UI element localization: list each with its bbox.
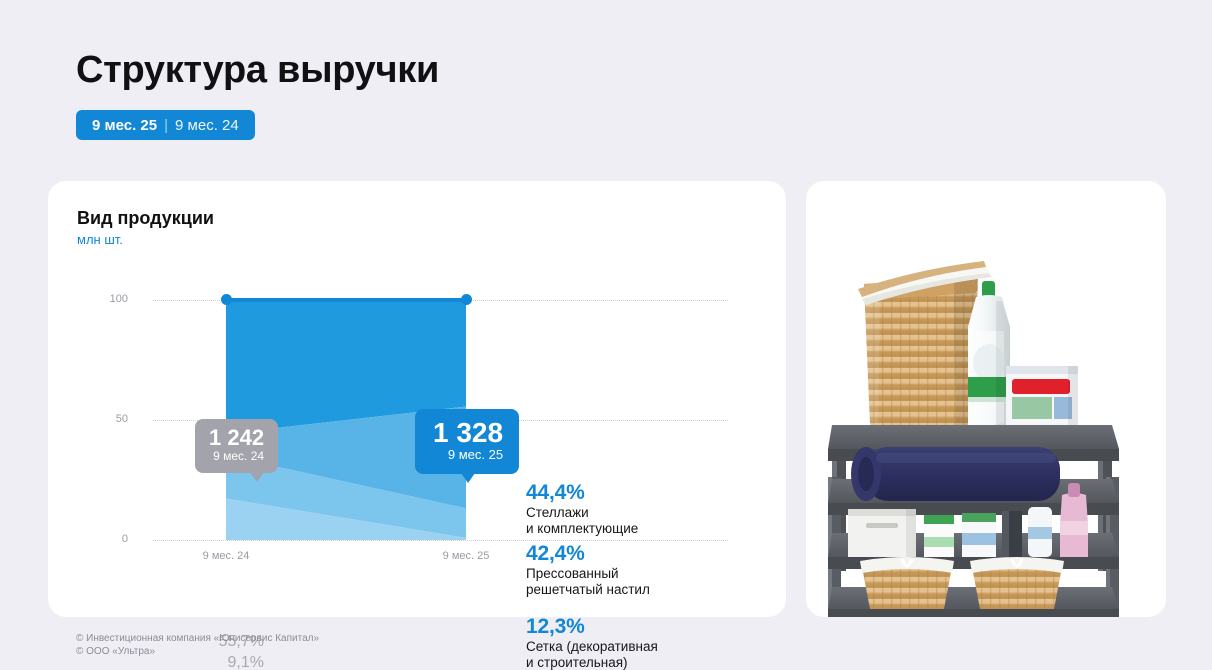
callout-current-total: 1 328 9 мес. 25 bbox=[415, 409, 519, 474]
plot-area: 100 50 0 1 bbox=[48, 181, 786, 617]
wicker-basket-left bbox=[860, 557, 954, 609]
shelving-unit-illustration bbox=[806, 181, 1166, 617]
slide-root: Структура выручки 9 мес. 25 | 9 мес. 24 … bbox=[0, 0, 1212, 670]
period-badge-current: 9 мес. 25 bbox=[92, 117, 157, 134]
shelving-unit-photo bbox=[806, 181, 1166, 617]
legend-label-0: Стеллажи и комплектующие bbox=[526, 505, 638, 538]
legend-label-1: Прессованный решетчатый настил bbox=[526, 566, 650, 599]
legend-percent-0: 44,4% bbox=[526, 481, 638, 505]
callout-current-period: 9 мес. 25 bbox=[433, 447, 503, 464]
storage-box-white bbox=[848, 509, 916, 557]
y-axis-tick-100: 100 bbox=[66, 293, 128, 305]
legend-item-stellazhi: 44,4% Стеллажи и комплектующие bbox=[526, 481, 638, 538]
legend-percent-1: 42,4% bbox=[526, 542, 650, 566]
y-axis-tick-50: 50 bbox=[66, 413, 128, 425]
detergent-box bbox=[1006, 366, 1078, 428]
period-badge-previous: 9 мес. 24 bbox=[175, 117, 239, 134]
data-point-current[interactable] bbox=[461, 294, 472, 305]
period-badge[interactable]: 9 мес. 25 | 9 мес. 24 bbox=[76, 110, 255, 140]
legend-label-2: Сетка (декоративная и строительная) bbox=[526, 639, 658, 670]
legend-item-nastil: 42,4% Прессованный решетчатый настил bbox=[526, 542, 650, 599]
x-axis-tick-prev: 9 мес. 24 bbox=[166, 550, 286, 562]
gridline-0 bbox=[153, 540, 728, 541]
callout-previous-period: 9 мес. 24 bbox=[209, 449, 264, 465]
page-title: Структура выручки bbox=[76, 49, 439, 92]
footer-line-2: © ООО «Ультра» bbox=[76, 645, 319, 658]
callout-previous-value: 1 242 bbox=[209, 426, 264, 449]
product-container-blue bbox=[962, 513, 996, 557]
footer-copyright: © Инвестиционная компания «Юнисервис Кап… bbox=[76, 632, 319, 658]
spray-bottle-white bbox=[1028, 507, 1052, 557]
navy-towel bbox=[851, 447, 1060, 501]
product-container-dark bbox=[1002, 511, 1022, 557]
wicker-basket-right bbox=[970, 557, 1064, 609]
series-top-line bbox=[226, 298, 466, 302]
product-container-green bbox=[924, 515, 954, 557]
legend-percent-2: 12,3% bbox=[526, 615, 658, 639]
legend-item-setka: 12,3% Сетка (декоративная и строительная… bbox=[526, 615, 658, 670]
chart-panel: Вид продукции млн шт. 100 50 0 bbox=[48, 181, 786, 617]
period-badge-separator: | bbox=[164, 117, 168, 134]
data-point-prev[interactable] bbox=[221, 294, 232, 305]
callout-current-value: 1 328 bbox=[433, 418, 503, 447]
y-axis-tick-0: 0 bbox=[66, 533, 128, 545]
footer-line-1: © Инвестиционная компания «Юнисервис Кап… bbox=[76, 632, 319, 645]
callout-previous-total: 1 242 9 мес. 24 bbox=[195, 419, 278, 473]
x-axis-tick-current: 9 мес. 25 bbox=[406, 550, 526, 562]
photo-panel bbox=[806, 181, 1166, 617]
